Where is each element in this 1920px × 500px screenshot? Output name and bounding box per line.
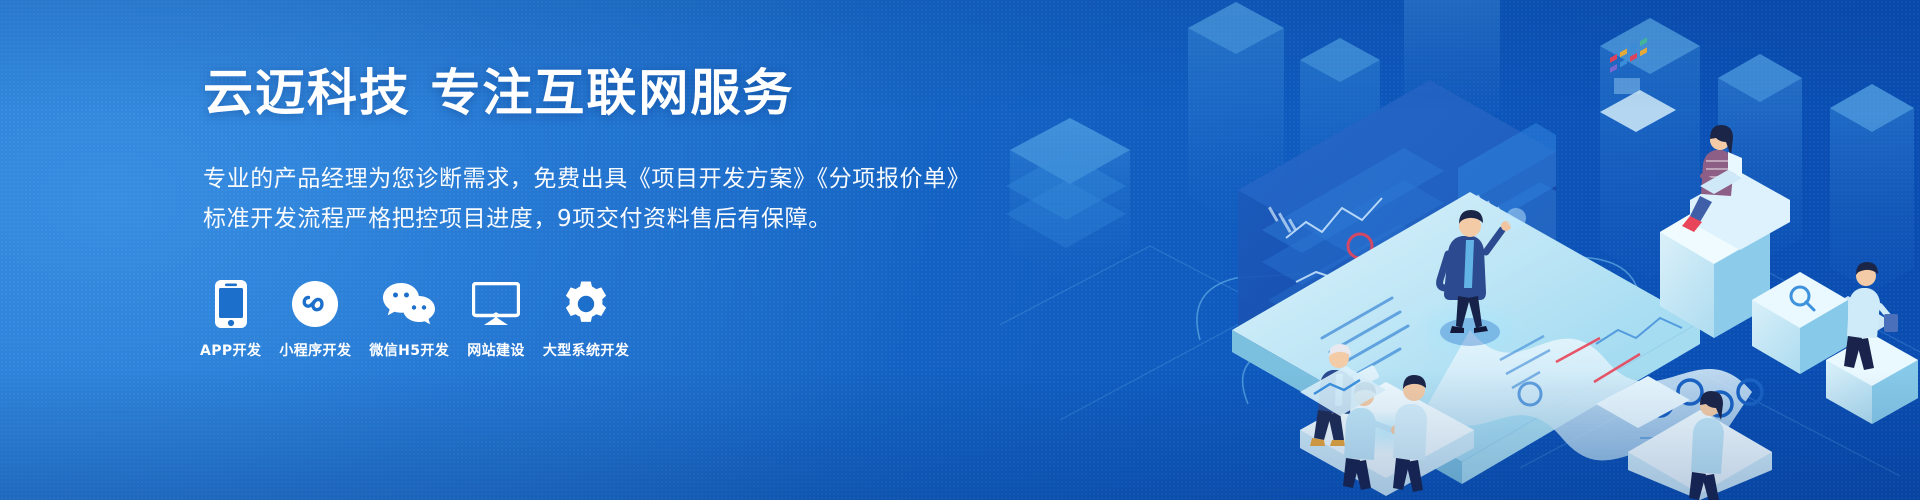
- subtitle-group: 专业的产品经理为您诊断需求，免费出具《项目开发方案》《分项报价单》 标准开发流程…: [203, 159, 963, 239]
- service-list: APP开发 小程序开发 微信: [200, 278, 647, 360]
- service-item-website[interactable]: 网站建设: [467, 278, 525, 360]
- service-label: APP开发: [200, 340, 261, 360]
- service-label: 大型系统开发: [543, 340, 629, 360]
- mini-program-icon: [291, 278, 339, 330]
- service-label: 网站建设: [467, 340, 525, 360]
- page-title: 云迈科技 专注互联网服务: [203, 64, 963, 123]
- hero-banner: 云迈科技 专注互联网服务 专业的产品经理为您诊断需求，免费出具《项目开发方案》《…: [0, 0, 1920, 500]
- service-label: 小程序开发: [279, 340, 351, 360]
- subtitle-line-2: 标准开发流程严格把控项目进度，9项交付资料售后有保障。: [203, 199, 963, 239]
- service-item-app[interactable]: APP开发: [200, 278, 261, 360]
- service-label: 微信H5开发: [369, 340, 449, 360]
- monitor-icon: [472, 278, 520, 330]
- smartphone-icon: [214, 278, 248, 330]
- service-item-large-system[interactable]: 大型系统开发: [543, 278, 629, 360]
- service-item-mini-program[interactable]: 小程序开发: [279, 278, 351, 360]
- service-item-wechat-h5[interactable]: 微信H5开发: [369, 278, 449, 360]
- subtitle-line-1: 专业的产品经理为您诊断需求，免费出具《项目开发方案》《分项报价单》: [203, 159, 963, 199]
- hero-copy: 云迈科技 专注互联网服务 专业的产品经理为您诊断需求，免费出具《项目开发方案》《…: [203, 64, 963, 239]
- illustration-isometric-tech: [1000, 0, 1920, 500]
- gear-icon: [562, 278, 610, 330]
- wechat-icon: [382, 278, 436, 330]
